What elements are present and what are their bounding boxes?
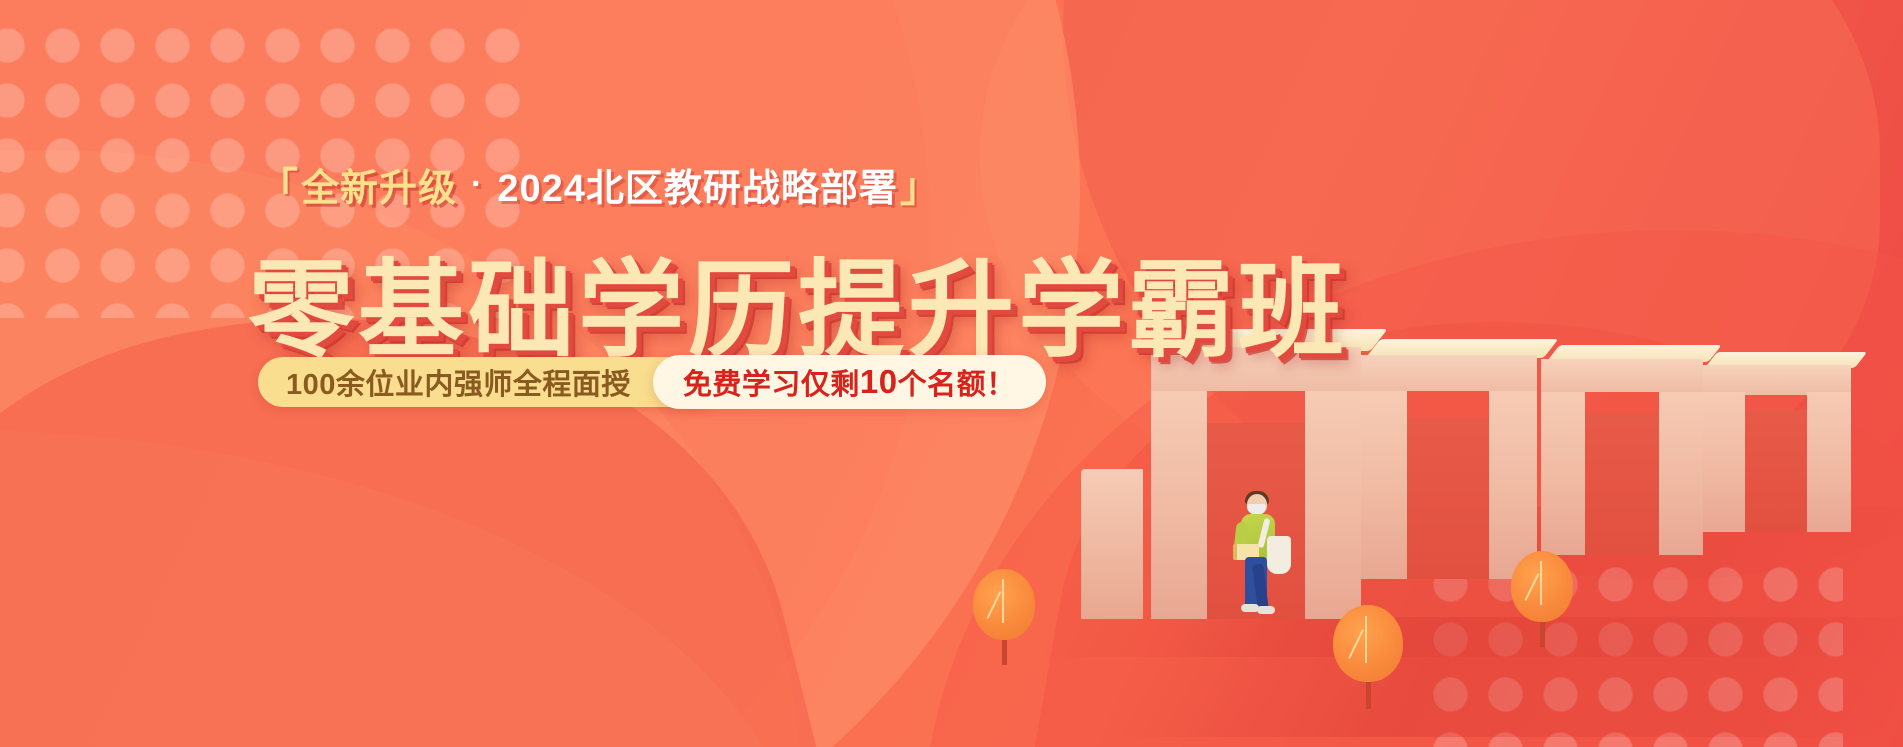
student-face-mask [1247,504,1266,514]
student-figure [1233,494,1303,619]
badge-row: 100余位业内强师全程面授 免费学习仅剩 10 个名额！ [258,355,1046,409]
badge-seats-suffix: 个名额！ [898,361,1016,403]
promo-banner: 「 全新升级 · 2024北区教研战略部署 」 零基础学历提升学霸班 100余位… [0,0,1903,747]
book-arch-4-doorway [1745,410,1807,532]
kicker-separator: · [459,165,495,204]
badge-seats-remaining[interactable]: 免费学习仅剩 10 个名额！ [653,355,1046,409]
book-arch-1-leg-left [1151,391,1207,619]
ground-shadow-lower [1108,617,1903,737]
book-arch-4-leg-right [1807,392,1851,532]
tree-middle-trunk [1366,682,1371,709]
tree-right-trunk [1540,622,1545,647]
tree-middle-crown [1333,605,1403,682]
tree-middle [1333,605,1403,709]
tree-right [1511,551,1573,647]
student-tote-bag [1267,536,1291,574]
student-shoe-right [1257,606,1275,614]
bracket-close: 」 [900,155,941,213]
book-arch-3-leg-right [1659,392,1703,555]
bracket-open: 「 [258,155,299,213]
kicker-white-text: 2024北区教研战略部署 [495,157,900,212]
book-arch-3-doorway [1585,413,1659,555]
tree-right-crown [1511,551,1573,622]
kicker-gold-text: 全新升级 [299,157,459,212]
badge-seats-prefix: 免费学习仅剩 [683,361,860,403]
book-arch-1-leg-right [1305,391,1361,619]
badge-seats-number: 10 [860,363,898,401]
book-arch-2-doorway [1407,417,1489,579]
kicker-line: 「 全新升级 · 2024北区教研战略部署 」 [258,155,941,213]
text-content: 「 全新升级 · 2024北区教研战略部署 」 零基础学历提升学霸班 100余位… [0,0,1100,747]
